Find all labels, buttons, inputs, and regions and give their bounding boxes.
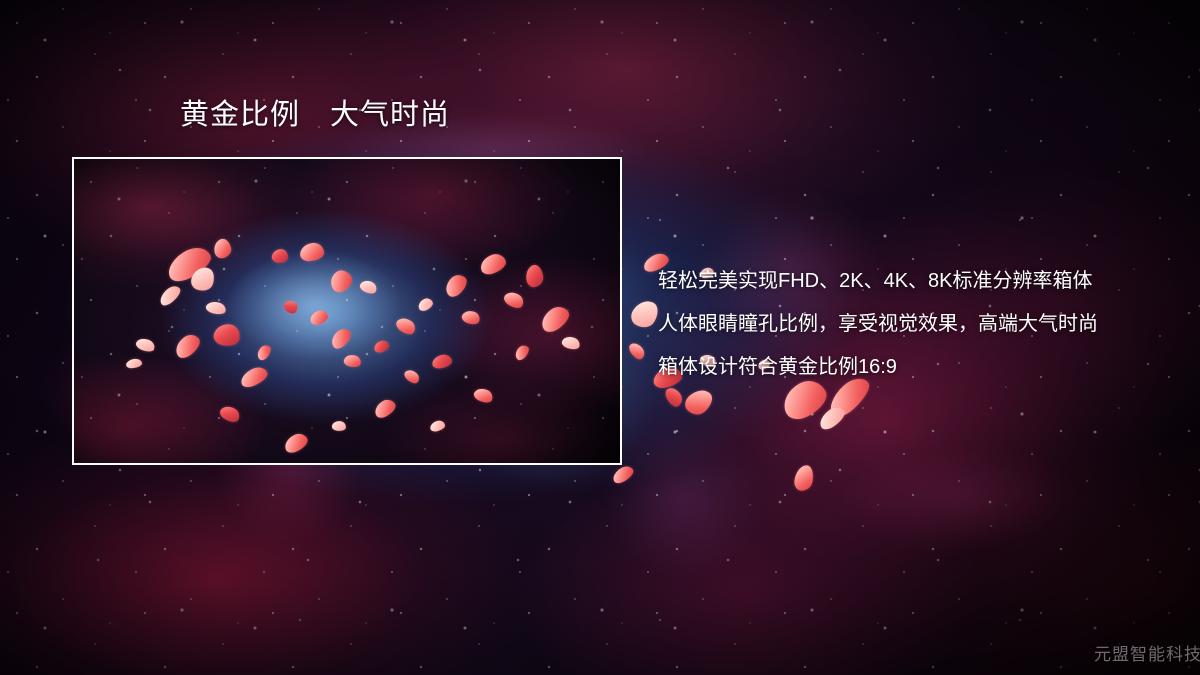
slide-canvas: 黄金比例 大气时尚 轻松完美实现FHD、2K、4K、8K标准分辨率箱体 人体眼睛… xyxy=(0,0,1200,675)
petal xyxy=(627,340,647,362)
petal xyxy=(793,464,815,493)
body-line-1: 轻松完美实现FHD、2K、4K、8K标准分辨率箱体 xyxy=(658,260,1098,303)
panel-vignette xyxy=(74,159,620,463)
body-line-3: 箱体设计符合黄金比例16:9 xyxy=(658,346,1098,389)
page-title: 黄金比例 大气时尚 xyxy=(180,101,450,130)
image-preview-frame[interactable] xyxy=(72,157,622,465)
body-text-block: 轻松完美实现FHD、2K、4K、8K标准分辨率箱体 人体眼睛瞳孔比例，享受视觉效… xyxy=(658,260,1098,389)
petal xyxy=(610,463,636,485)
body-line-2: 人体眼睛瞳孔比例，享受视觉效果，高端大气时尚 xyxy=(658,303,1098,346)
petal xyxy=(681,384,717,419)
watermark-text: 元盟智能科技 xyxy=(1094,640,1200,665)
